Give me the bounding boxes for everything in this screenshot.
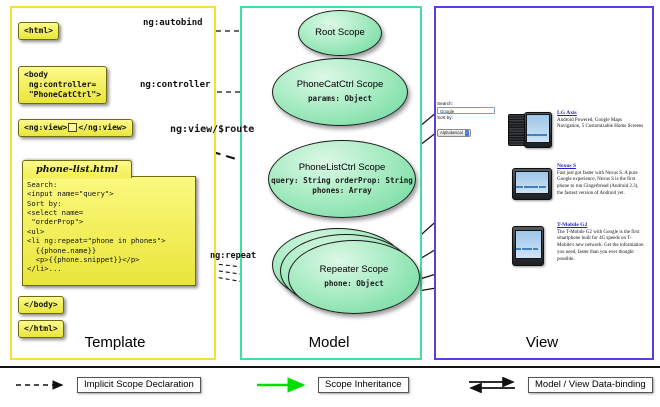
phone-image-1: [508, 112, 550, 146]
ng-view-close: </ng:view>: [78, 123, 126, 132]
phone-link-3[interactable]: T-Mobile G2: [557, 222, 645, 228]
phone-link-2[interactable]: Nexus S: [557, 163, 645, 169]
scope-repeater-title: Repeater Scope: [320, 265, 389, 276]
phone-link-1[interactable]: LG Axis: [557, 110, 645, 116]
label-ng-controller: ng:controller: [140, 80, 210, 90]
scope-phonelistctrl-members: query: String orderProp: String phones: …: [269, 176, 415, 195]
scope-root: Root Scope: [298, 10, 382, 56]
panel-label-view: View: [487, 334, 597, 351]
panel-label-template: Template: [60, 334, 170, 351]
search-input[interactable]: Google: [437, 107, 495, 114]
phone-listing-3: T-Mobile G2 The T-Mobile G2 with Google …: [557, 222, 645, 263]
diagram-canvas: Template Model View <html> <body ng:cont…: [0, 0, 660, 405]
legend-item-data-binding: Model / View Data-binding: [465, 376, 653, 394]
chevron-updown-icon: ↕: [465, 130, 469, 136]
green-arrow-icon: [255, 377, 311, 393]
html-open-tag: <html>: [18, 22, 59, 40]
body-open-tag: <body ng:controller= "PhoneCatCtrl">: [18, 66, 107, 104]
scope-phonecatctrl: PhoneCatCtrl Scope params: Object: [272, 58, 408, 126]
sort-select-value: Alphabetical: [440, 130, 463, 135]
phone-image-2: [512, 168, 550, 198]
dashed-arrow-icon: [14, 377, 70, 393]
phone-snippet-2: Fast just got faster with Nexus S. A pur…: [557, 171, 645, 198]
scope-repeater-members: phone: Object: [324, 279, 383, 288]
double-arrow-icon: [465, 377, 521, 393]
partial-code: Search: <input name="query"> Sort by: <s…: [22, 176, 196, 286]
ng-view-placeholder-box: [68, 123, 77, 132]
label-ng-autobind: ng:autobind: [143, 18, 203, 28]
sort-select[interactable]: Alphabetical ↕: [437, 129, 471, 137]
html-close-tag: </html>: [18, 320, 64, 338]
scope-phonelistctrl: PhoneListCtrl Scope query: String orderP…: [268, 140, 416, 218]
search-widget: Search: Google Sort by: Alphabetical ↕: [437, 101, 499, 139]
phone-snippet-3: The T-Mobile G2 with Google is the first…: [557, 230, 645, 264]
scope-root-title: Root Scope: [315, 28, 365, 39]
body-close-tag: </body>: [18, 296, 64, 314]
panel-label-model: Model: [274, 334, 384, 351]
legend-item-scope-inheritance: Scope Inheritance: [255, 376, 409, 394]
ng-view-open: <ng:view>: [24, 123, 67, 132]
ng-view-tag: <ng:view></ng:view>: [18, 119, 133, 137]
phone-snippet-1: Android Powered, Google Maps Navigation,…: [557, 118, 645, 132]
scope-phonecatctrl-title: PhoneCatCtrl Scope: [297, 80, 384, 91]
phone-image-3: [512, 226, 542, 264]
legend: Implicit Scope Declaration Scope Inherit…: [0, 366, 660, 407]
scope-phonelistctrl-title: PhoneListCtrl Scope: [299, 163, 386, 174]
phone-listing-1: LG Axis Android Powered, Google Maps Nav…: [557, 110, 645, 131]
label-ng-view-route: ng:view/$route: [170, 124, 254, 135]
partial-template-note: phone-list.html Search: <input name="que…: [22, 160, 198, 288]
phone-listing-2: Nexus S Fast just got faster with Nexus …: [557, 163, 645, 198]
partial-filename: phone-list.html: [22, 160, 132, 178]
legend-item-implicit-scope-declaration: Implicit Scope Declaration: [14, 376, 201, 394]
scope-repeater: Repeater Scope phone: Object: [288, 240, 420, 314]
label-ng-repeat: ng:repeat: [210, 251, 256, 261]
legend-label-databinding: Model / View Data-binding: [528, 377, 653, 393]
scope-phonecatctrl-members: params: Object: [308, 94, 372, 103]
legend-label-inheritance: Scope Inheritance: [318, 377, 409, 393]
sort-label: Sort by:: [437, 115, 499, 121]
legend-label-implicit: Implicit Scope Declaration: [77, 377, 201, 393]
